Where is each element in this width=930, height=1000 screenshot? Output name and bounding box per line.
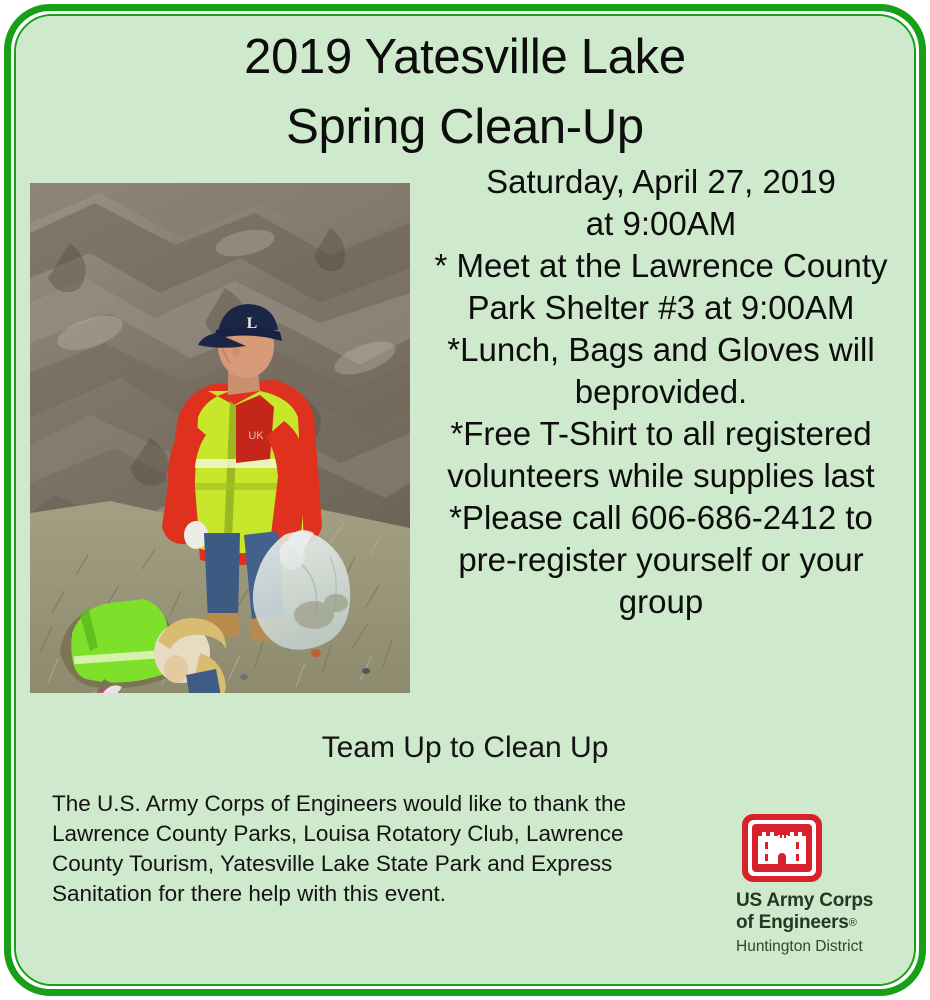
- svg-text:UK: UK: [248, 430, 264, 442]
- detail-line-tshirt-1: *Free T-Shirt to all registered: [412, 413, 910, 455]
- detail-line-tshirt-2: volunteers while supplies last: [412, 455, 910, 497]
- detail-line-meet-1: * Meet at the Lawrence County: [412, 245, 910, 287]
- detail-line-lunch-2: beprovided.: [412, 371, 910, 413]
- poster: 2019 Yatesville Lake Spring Clean-Up: [0, 0, 930, 1000]
- svg-text:L: L: [247, 315, 258, 332]
- poster-title: 2019 Yatesville Lake Spring Clean-Up: [16, 22, 914, 162]
- acknowledgement-text: The U.S. Army Corps of Engineers would l…: [52, 789, 692, 909]
- registered-trademark-icon: ®: [849, 917, 857, 929]
- volunteers-photo-illustration: UK L: [30, 183, 410, 693]
- usace-logo-line2-text: of Engineers: [736, 912, 849, 933]
- usace-logo-line1: US Army Corps: [736, 890, 902, 912]
- detail-line-phone-2: pre-register yourself or your: [412, 539, 910, 581]
- volunteers-photo: UK L: [30, 183, 410, 693]
- usace-castle-icon: [740, 812, 824, 884]
- detail-line-phone-1: *Please call 606-686-2412 to: [412, 497, 910, 539]
- detail-line-phone-3: group: [412, 581, 910, 623]
- detail-line-meet-2: Park Shelter #3 at 9:00AM: [412, 287, 910, 329]
- poster-slogan: Team Up to Clean Up: [16, 729, 914, 767]
- usace-logo-district: Huntington District: [736, 937, 902, 957]
- usace-logo: US Army Corps of Engineers® Huntington D…: [722, 812, 902, 957]
- detail-line-lunch-1: *Lunch, Bags and Gloves will: [412, 329, 910, 371]
- detail-line-time: at 9:00AM: [412, 203, 910, 245]
- usace-logo-line2: of Engineers®: [736, 912, 902, 934]
- poster-canvas: 2019 Yatesville Lake Spring Clean-Up: [16, 16, 914, 984]
- usace-logo-text: US Army Corps of Engineers® Huntington D…: [736, 890, 902, 957]
- event-details: Saturday, April 27, 2019 at 9:00AM * Mee…: [412, 161, 910, 623]
- detail-line-date: Saturday, April 27, 2019: [412, 161, 910, 203]
